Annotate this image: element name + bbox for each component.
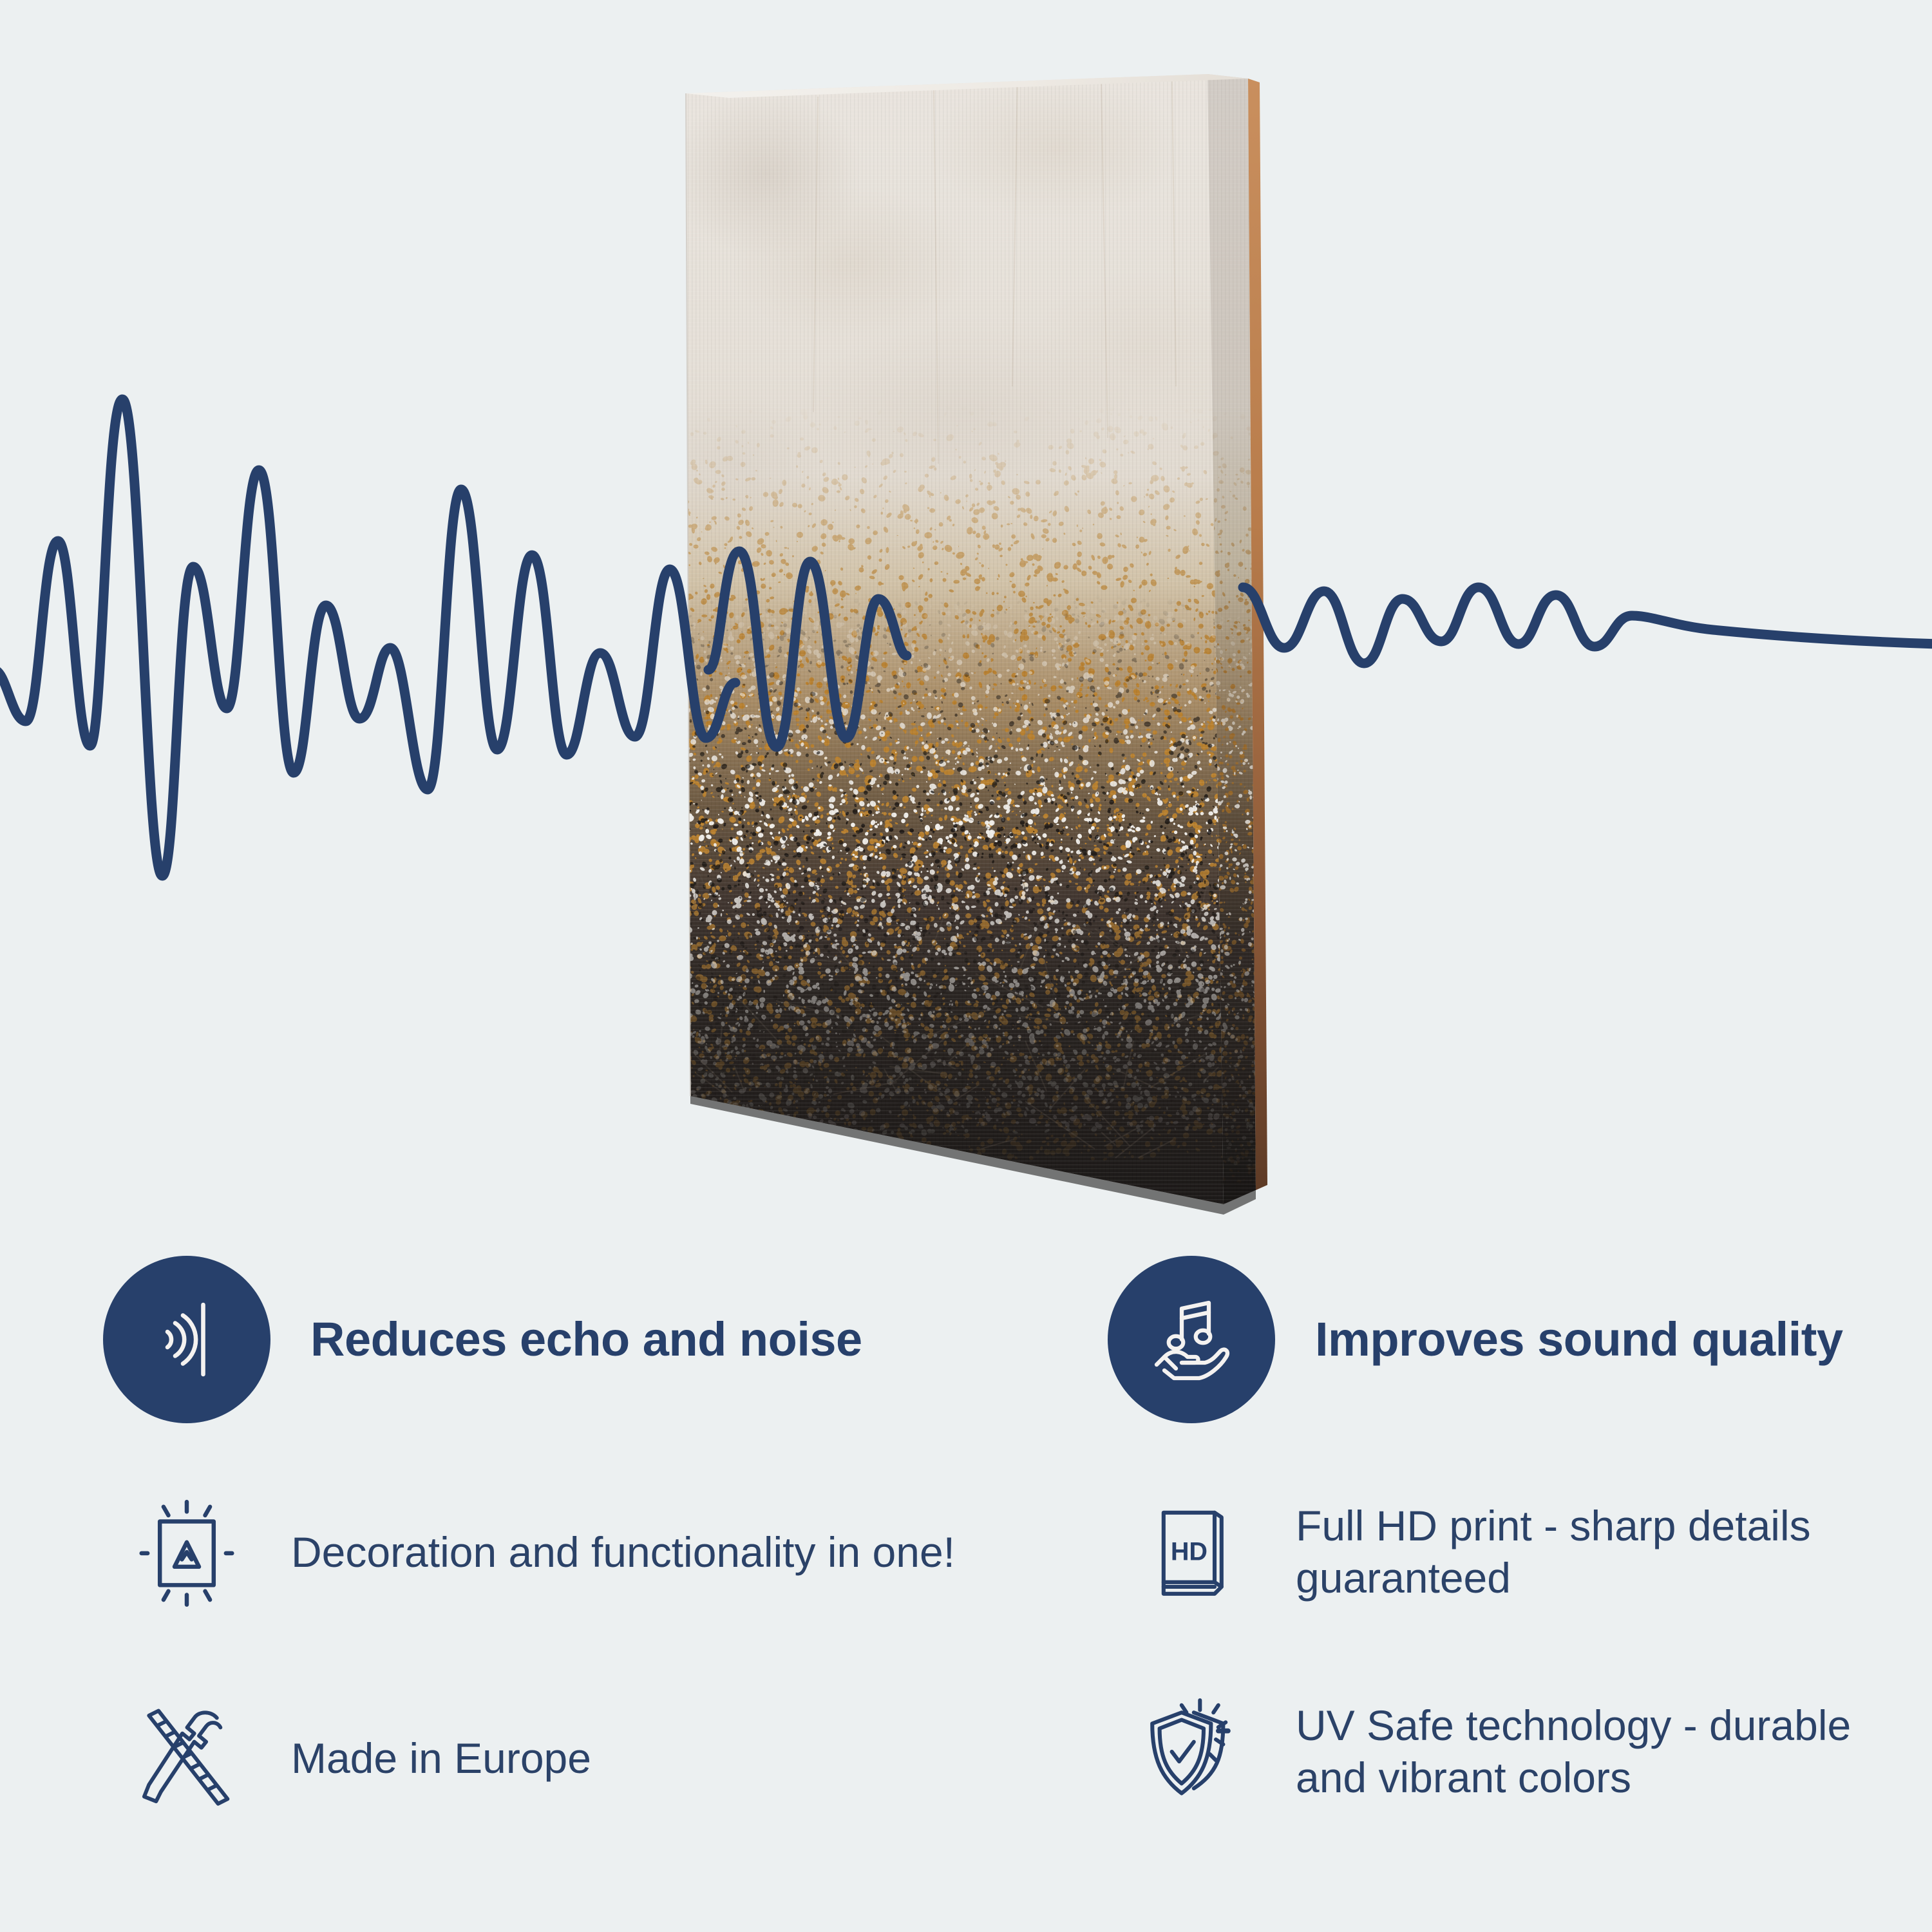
feature-decoration-functionality[interactable]: Decoration and functionality in one!	[122, 1488, 955, 1616]
feature-text: Decoration and functionality in one!	[291, 1526, 955, 1578]
framed-picture-shining-icon	[122, 1488, 251, 1616]
infographic-stage: Reduces echo and noise	[0, 0, 1932, 1932]
feature-list: Reduces echo and noise	[0, 1243, 1932, 1932]
feature-improves-sound[interactable]: Improves sound quality	[1108, 1256, 1843, 1423]
feature-uv-safe[interactable]: UV Safe technology - durable and vibrant…	[1127, 1687, 1932, 1816]
canvas-front-face	[657, 52, 1275, 1230]
canvas-3d-illustration	[657, 52, 1275, 1230]
feature-text: UV Safe technology - durable and vibrant…	[1296, 1700, 1932, 1803]
waveform-right-path	[1243, 587, 1932, 663]
feature-badge	[103, 1256, 270, 1423]
ruler-and-hammer-icon	[122, 1694, 251, 1823]
hand-holding-music-note-icon	[1127, 1275, 1256, 1404]
feature-text: Full HD print - sharp details guaranteed	[1296, 1500, 1932, 1604]
shield-check-sun-icon	[1127, 1687, 1256, 1816]
feature-full-hd-print[interactable]: HD Full HD print - sharp details guarant…	[1127, 1488, 1932, 1616]
product-canvas-image	[657, 52, 1275, 1230]
feature-badge	[1108, 1256, 1275, 1423]
feature-title: Reduces echo and noise	[310, 1313, 862, 1365]
waveform-left-path	[0, 399, 735, 876]
hd-label: HD	[1171, 1538, 1207, 1566]
feature-made-in-europe[interactable]: Made in Europe	[122, 1694, 591, 1823]
sound-waves-absorbed-icon	[122, 1275, 251, 1404]
feature-text: Made in Europe	[291, 1732, 591, 1785]
feature-title: Improves sound quality	[1315, 1313, 1843, 1365]
feature-reduces-echo[interactable]: Reduces echo and noise	[103, 1256, 862, 1423]
hd-canvas-icon: HD	[1127, 1488, 1256, 1616]
